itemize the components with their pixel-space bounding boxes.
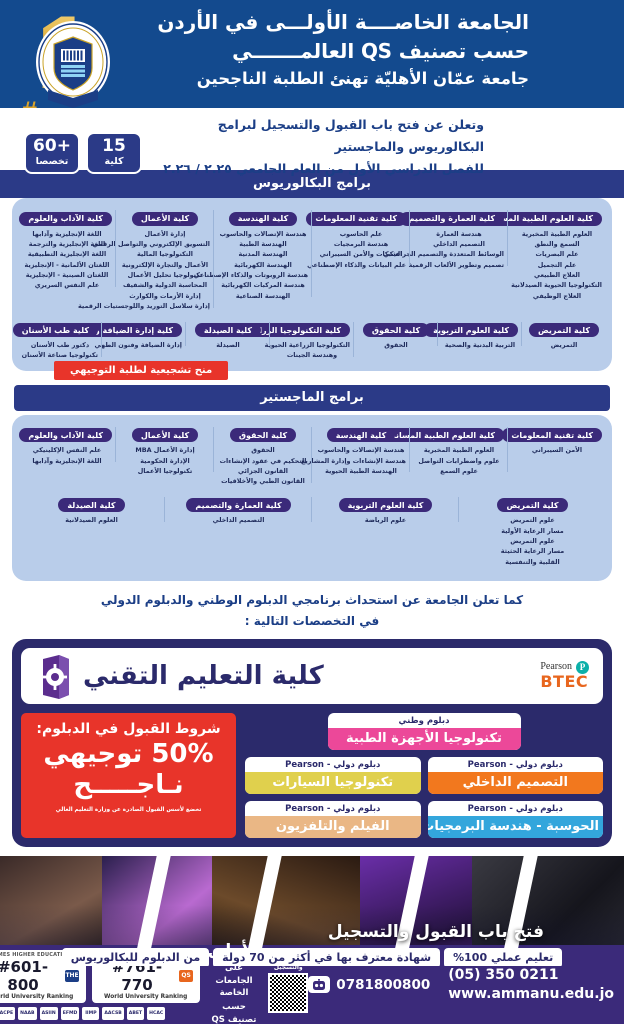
footer-awla-line-2: حسب تصنيف QS [208, 1001, 261, 1027]
program-college-column: كلية التمريضالتمريض [522, 318, 606, 351]
program-college-title: كلية الهندسة [327, 428, 395, 442]
program-college-column: كلية طب الأسناندكتور طب الأسنانتكنولوجيا… [18, 318, 102, 361]
diploma-card-type: دبلوم دولي - Pearson [428, 757, 604, 772]
program-major-list: العلوم الطبية المخبريةالسمع والنطقعلم ال… [512, 229, 602, 302]
program-major-item: إدارة الضيافة وفنون الطهي [106, 340, 182, 350]
program-college-title: كلية الأعمال [132, 428, 198, 442]
program-major-list: هندسة الإتصالات والحاسوبالهندسة الطبيةال… [218, 229, 308, 302]
subheader-line-1: وتعلن عن فتح باب القبول والتسجيل لبرامج … [150, 114, 484, 158]
program-major-item: علوم التمريض [463, 515, 602, 525]
program-major-item: القانون الجزائي [218, 466, 308, 476]
program-major-item: التحكيم في عقود الإنشاءات [218, 456, 308, 466]
program-major-item: إدارة الأعمال [120, 229, 210, 239]
program-major-item: دكتور طب الأسنان [22, 340, 98, 350]
diploma-card-type: دبلوم دولي - Pearson [428, 801, 604, 816]
technical-education-panel: P Pearson BTEC كلية التعليم التقني دبلوم… [12, 639, 612, 847]
footer-contact: (05) 350 0211 www.ammanu.edu.jo [448, 966, 614, 1004]
stat-pill-colleges: 15 كلية [86, 132, 142, 174]
diploma-card-type: دبلوم وطني [328, 713, 521, 728]
program-major-item: العلاج الطبيعي [512, 270, 602, 280]
program-major-list: التمريض [526, 340, 602, 350]
program-major-list: علوم الرياضة [316, 515, 455, 525]
program-college-column: كلية تقنية المعلوماتالأمن السيبراني [508, 423, 606, 456]
diploma-card[interactable]: دبلوم دولي - Pearsonتكنولوجيا السيارات [245, 757, 421, 794]
program-college-column: كلية الحقوقالحقوق [354, 318, 438, 351]
admission-conditions-line-1: 50% توجيهي [29, 740, 228, 769]
diploma-card-row: دبلوم وطنيتكنولوجيا الأجهزة الطبية [245, 713, 603, 750]
program-major-item: العلاج الوظيفي [512, 291, 602, 301]
program-college-column: كلية الصيدلةالصيدلة [186, 318, 270, 351]
diploma-card[interactable]: دبلوم دولي - Pearsonالتصميم الداخلي [428, 757, 604, 794]
header-line-1: الجامعة الخاصــــة الأولـــى في الأردن [150, 8, 529, 37]
accreditation-logo: EFMD [61, 1007, 80, 1020]
diploma-body: دبلوم وطنيتكنولوجيا الأجهزة الطبيةدبلوم … [21, 713, 603, 838]
ranking-badge-icon: THE [65, 970, 78, 982]
program-major-item: الهندسة الطبية الحيوية [316, 466, 406, 476]
program-major-item: اللغتان الألمانية - الإنجليزية [22, 260, 112, 270]
bachelor-row-1: كلية العلوم الطبية المساندةالعلوم الطبية… [18, 206, 606, 312]
program-major-item: علم النفس الإكلينيكي [22, 445, 112, 455]
stats-pills: 15 كلية +60 تخصصا [24, 132, 142, 174]
program-major-item: هندسة الروبوتات والذكاء الإصطناعي [218, 270, 308, 280]
admission-conditions-footnote: تخضع لأسس القبول الصادرة عن وزارة التعلي… [29, 807, 228, 814]
accreditation-logo: AACSB [102, 1007, 123, 1020]
program-college-title: كلية الآداب والعلوم [19, 212, 112, 226]
program-major-item: إدارة الأزمات والكوارث [120, 291, 210, 301]
accreditation-logo: NAAB [18, 1007, 36, 1020]
header-line-3: جامعة عمّان الأهليّة تهنئ الطلبة الناجحي… [150, 67, 529, 92]
program-major-item: علم الحاسوب [316, 229, 406, 239]
program-major-item: هندسة المركبات الكهربائية [218, 280, 308, 290]
diploma-card-name: تكنولوجيا السيارات [245, 772, 421, 794]
photo-strip: فتح باب القبول والتسجيل تعليم عملي 100%ش… [0, 856, 624, 966]
accreditation-logo: HCAC [147, 1007, 165, 1020]
subheader-text: وتعلن عن فتح باب القبول والتسجيل لبرامج … [150, 114, 484, 180]
master-programs-panel: كلية تقنية المعلوماتالأمن السيبرانيكلية … [12, 415, 612, 581]
btec-label: BTEC [540, 674, 589, 691]
program-major-item: اللغة الإنجليزية وآدابها [22, 456, 112, 466]
program-major-item: الهندسة الطبية [218, 239, 308, 249]
photo-benefit-chip: شهادة معترف بها في أكثر من 70 دولة [213, 948, 440, 966]
program-college-title: كلية الآداب والعلوم [19, 428, 112, 442]
admission-conditions-heading: شروط القبول في الدبلوم: [29, 720, 228, 738]
header-text-block: الجامعة الخاصــــة الأولـــى في الأردن ح… [150, 8, 529, 92]
program-major-item: علم البصريات [512, 249, 602, 259]
program-college-title: كلية العمارة والتصميم [186, 498, 290, 512]
section-title-master: برامج الماجستير [14, 385, 610, 411]
photo-benefit-chip: تعليم عملي 100% [444, 948, 562, 966]
master-row-1: كلية تقنية المعلوماتالأمن السيبرانيكلية … [18, 423, 606, 487]
program-college-column: كلية التكنولوجيا الزراعيةالتكنولوجيا الز… [270, 318, 354, 361]
program-major-item: مسار الرعاية الأولية [463, 526, 602, 536]
program-major-item: الإدارة الحكومية [120, 456, 210, 466]
ranking-subtitle: World University Ranking [99, 994, 193, 1000]
footer-whatsapp[interactable]: 0781800800 [308, 976, 430, 993]
program-college-title: كلية التمريض [497, 498, 567, 512]
whatsapp-robot-icon [308, 976, 330, 993]
program-major-item: علوم واضطرابات التواصل [414, 456, 504, 466]
program-college-title: كلية تقنية المعلومات [306, 212, 406, 226]
photo-benefit-chip: من الدبلوم للبكالوريوس [62, 948, 209, 966]
header-banner: 1 # الجامعة الخاصــــة الأولـــى في الأر… [0, 0, 624, 108]
program-major-list: التصميم الداخلي [169, 515, 308, 525]
bachelor-programs-panel: كلية العلوم الطبية المساندةالعلوم الطبية… [12, 198, 612, 371]
program-college-column: كلية الحقوقالحقوقالتحكيم في عقود الإنشاء… [214, 423, 312, 487]
accreditation-logo: ASIIN [40, 1007, 58, 1020]
program-college-title: كلية الصيدلة [58, 498, 124, 512]
program-major-item: هندسة الإتصالات والحاسوب [218, 229, 308, 239]
program-college-column: كلية العلوم الطبية المساندةالعلوم الطبية… [508, 206, 606, 301]
diploma-card[interactable]: دبلوم وطنيتكنولوجيا الأجهزة الطبية [328, 713, 521, 750]
program-college-column: كلية العمارة والتصميمهندسة العمارةالتصمي… [410, 206, 508, 270]
program-college-column: كلية الصيدلةالعلوم الصيدلانية [18, 493, 165, 526]
stat-pill-colleges-label: كلية [88, 156, 140, 168]
program-major-item: الهندسة الكهربائية [218, 260, 308, 270]
diploma-card-row: دبلوم دولي - Pearsonالتصميم الداخليدبلوم… [245, 757, 603, 794]
program-major-list: علم النفس الإكلينيكياللغة الإنجليزية وآد… [22, 445, 112, 466]
diploma-card-name: التصميم الداخلي [428, 772, 604, 794]
program-major-item: التصميم الداخلي [169, 515, 308, 525]
program-major-list: إدارة الأعمالالتسويق الإلكتروني والتواصل… [120, 229, 210, 312]
program-major-item: وهندسة الجينات [274, 350, 350, 360]
accreditation-logos: HCACABETAACSBIIMPEFMDASIINNAABACPEADA [0, 1007, 165, 1020]
accreditation-logo: ABET [127, 1007, 144, 1020]
scholarship-banner: منح تشجيعية لطلبة التوجيهي [54, 361, 228, 380]
program-major-list: العلوم الصيدلانية [22, 515, 161, 525]
program-college-column: كلية الأعمالإدارة الأعمالالتسويق الإلكتر… [116, 206, 214, 312]
program-major-item: الصيدلة [190, 340, 266, 350]
pearson-btec-logo: P Pearson BTEC [540, 661, 589, 691]
program-major-item: هندسة الإتصالات والحاسوب [316, 445, 406, 455]
program-major-list: هندسة العمارةالتصميم الداخليالوسائط المت… [414, 229, 504, 271]
program-college-column: كلية الآداب والعلومعلم النفس الإكلينيكيا… [18, 423, 116, 466]
qr-code-icon[interactable] [268, 973, 308, 1013]
program-major-item: العلوم الصيدلانية [22, 515, 161, 525]
program-major-item: القانون الطبي والأخلاقيات [218, 476, 308, 486]
program-major-item: الهندسة الصناعية [218, 291, 308, 301]
program-college-title: كلية طب الأسنان [13, 323, 98, 337]
diploma-intro-line-1: كما تعلن الجامعة عن استحداث برنامجي الدب… [0, 590, 624, 611]
program-major-list: الحقوقالتحكيم في عقود الإنشاءاتالقانون ا… [218, 445, 308, 487]
program-college-column: كلية الأعمالإدارة الأعمال MBAالإدارة الح… [116, 423, 214, 477]
program-major-item: تكنولوجيا تحليل الأعمال [120, 270, 210, 280]
program-college-title: كلية العمارة والتصميم [400, 212, 504, 226]
program-major-list: دكتور طب الأسنانتكنولوجيا صناعة الأسنان [22, 340, 98, 361]
program-major-item: اللغة الإنجليزية وآدابها [22, 229, 112, 239]
program-major-item: هندسة العمارة [414, 229, 504, 239]
program-major-item: هندسة الإنشاءات وإدارة المشاريع [316, 456, 406, 466]
program-college-title: كلية الصيدلة [195, 323, 261, 337]
photo-strip-chips: تعليم عملي 100%شهادة معترف بها في أكثر م… [0, 948, 624, 966]
technical-college-title-group: كلية التعليم التقني [35, 653, 324, 699]
header-line-2: حسب تصنيف QS العالمـــــــي [150, 37, 529, 66]
program-major-item: التكنولوجيا المالية [120, 249, 210, 259]
technical-college-header: P Pearson BTEC كلية التعليم التقني [21, 648, 603, 704]
program-major-item: اللغة الإنجليزية والترجمة [22, 239, 112, 249]
program-college-title: كلية التمريض [529, 323, 599, 337]
program-major-item: علوم التمريض [463, 536, 602, 546]
program-major-item: اللغتان الصينية - الإنجليزية [22, 270, 112, 280]
diploma-intro-line-2: في التخصصات التالية : [0, 611, 624, 632]
diploma-card[interactable]: دبلوم دولي - Pearsonالحوسبة - هندسة البر… [428, 801, 604, 838]
program-major-item: تكنولوجيا الأعمال [120, 466, 210, 476]
program-college-title: كلية الحقوق [230, 428, 296, 442]
accreditation-logo: IIMP [82, 1007, 99, 1020]
program-major-item: الأمن السيبراني [512, 445, 602, 455]
program-major-item: التربية البدنية والصحية [442, 340, 518, 350]
subheader-line-2: للفصل الدراسي الأول من العام الجامعي ٢.٢… [150, 158, 484, 180]
stat-pill-majors-label: تخصصا [26, 156, 78, 168]
photo-strip-caption: فتح باب القبول والتسجيل [328, 922, 544, 942]
program-major-item: إدارة الأعمال MBA [120, 445, 210, 455]
program-college-column: كلية التمريضعلوم التمريضمسار الرعاية الأ… [459, 493, 606, 567]
program-college-title: كلية الحقوق [363, 323, 429, 337]
program-major-list: العلوم الطبية المخبريةعلوم واضطرابات الت… [414, 445, 504, 476]
diploma-cards-group: دبلوم وطنيتكنولوجيا الأجهزة الطبيةدبلوم … [245, 713, 603, 838]
technical-college-title: كلية التعليم التقني [83, 661, 324, 691]
program-major-item: اللغة الإنجليزية التطبيقية [22, 249, 112, 259]
program-major-item: علم التجميل [512, 260, 602, 270]
diploma-intro: كما تعلن الجامعة عن استحداث برنامجي الدب… [0, 581, 624, 639]
program-major-item: الحقوق [218, 445, 308, 455]
tech-education-book-gear-icon [35, 653, 75, 699]
program-college-column: كلية العلوم التربويةعلوم الرياضة [312, 493, 459, 526]
program-major-item: العلوم الطبية المخبرية [512, 229, 602, 239]
diploma-card-type: دبلوم دولي - Pearson [245, 757, 421, 772]
program-college-column: كلية الهندسةهندسة الإتصالات والحاسوبهندس… [312, 423, 410, 477]
program-college-column: كلية العلوم الطبية المساندةالعلوم الطبية… [410, 423, 508, 477]
program-college-column: كلية العمارة والتصميمالتصميم الداخلي [165, 493, 312, 526]
footer-website[interactable]: www.ammanu.edu.jo [448, 985, 614, 1004]
program-major-item: مسار الرعاية الحثيثة [463, 546, 602, 556]
program-college-title: كلية الأعمال [132, 212, 198, 226]
program-college-title: كلية الهندسة [229, 212, 297, 226]
diploma-card-name: الحوسبة - هندسة البرمجيات [428, 816, 604, 838]
program-major-item: الحقوق [358, 340, 434, 350]
admission-conditions-box: شروط القبول في الدبلوم: 50% توجيهي نـاجـ… [21, 713, 236, 838]
program-college-title: كلية العلوم التربوية [424, 323, 518, 337]
program-major-item: التمريض [526, 340, 602, 350]
program-college-column: كلية إدارة الضيافة والسياحةإدارة الضيافة… [102, 318, 186, 351]
program-major-item: التسويق الإلكتروني والتواصل الرقمي [120, 239, 210, 249]
footer-whatsapp-number[interactable]: 0781800800 [336, 977, 430, 993]
ranking-badge-icon: QS [179, 970, 192, 982]
diploma-card-name: الفيلم والتلفزيون [245, 816, 421, 838]
program-college-title: كلية العلوم التربوية [339, 498, 433, 512]
program-major-list: الأمن السيبراني [512, 445, 602, 455]
diploma-card-row: دبلوم دولي - Pearsonالحوسبة - هندسة البر… [245, 801, 603, 838]
program-major-list: التكنولوجيا الزراعية الحيويةوهندسة الجين… [274, 340, 350, 361]
program-major-list: إدارة الأعمال MBAالإدارة الحكوميةتكنولوج… [120, 445, 210, 476]
program-major-item: إدارة سلاسل التوريد واللوجستيات الرقمية [120, 301, 210, 311]
bachelor-row-2: كلية التمريضالتمريضكلية العلوم التربويةا… [18, 318, 606, 361]
program-major-item: الأعمال والتجارة الإلكترونية [120, 260, 210, 270]
accreditation-logo: ACPE [0, 1007, 15, 1020]
program-major-item: تصميم وتطوير الألعاب الرقمية [414, 260, 504, 270]
program-major-list: علوم التمريضمسار الرعاية الأوليةعلوم الت… [463, 515, 602, 567]
program-major-item: تكنولوجيا صناعة الأسنان [22, 350, 98, 360]
program-major-list: إدارة الضيافة وفنون الطهي [106, 340, 182, 350]
program-major-item: التكنولوجيا الحيوية الصيدلانية [512, 280, 602, 290]
program-major-item: التكنولوجيا الزراعية الحيوية [274, 340, 350, 350]
program-major-item: علم البيانات والذكاء الإصطناعي [316, 260, 406, 270]
master-row-2: كلية التمريضعلوم التمريضمسار الرعاية الأ… [18, 493, 606, 567]
program-major-item: العلوم الطبية المخبرية [414, 445, 504, 455]
program-major-list: التربية البدنية والصحية [442, 340, 518, 350]
program-college-column: كلية الهندسةهندسة الإتصالات والحاسوبالهن… [214, 206, 312, 301]
program-college-column: كلية الآداب والعلوماللغة الإنجليزية وآدا… [18, 206, 116, 291]
diploma-card-type: دبلوم دولي - Pearson [245, 801, 421, 816]
program-major-item: القلبية والتنفسية [463, 557, 602, 567]
program-major-item: التصميم الداخلي [414, 239, 504, 249]
program-major-item: علم النفس السريري [22, 280, 112, 290]
program-major-item: الهندسة المدنية [218, 249, 308, 259]
program-major-item: الشبكات والأمن السيبراني [316, 249, 406, 259]
program-college-column: كلية العلوم التربويةالتربية البدنية والص… [438, 318, 522, 351]
stat-pill-majors-number: +60 [26, 137, 78, 156]
program-major-item: المحاسبة الدولية والشفيف [120, 280, 210, 290]
program-major-list: الحقوق [358, 340, 434, 350]
admission-conditions-line-2: نـاجـــــح [29, 771, 228, 800]
program-major-item: الوسائط المتعددة والتصميم الجرافيكي [414, 249, 504, 259]
stat-pill-colleges-number: 15 [88, 137, 140, 156]
program-major-list: هندسة الإتصالات والحاسوبهندسة الإنشاءات … [316, 445, 406, 476]
program-major-item: هندسة البرمجيات [316, 239, 406, 249]
program-major-list: اللغة الإنجليزية وآدابهااللغة الإنجليزية… [22, 229, 112, 291]
stat-pill-majors: +60 تخصصا [24, 132, 80, 174]
university-crest-icon [34, 18, 112, 110]
program-major-item: علوم السمع [414, 466, 504, 476]
footer-phone[interactable]: (05) 350 0211 [448, 966, 614, 985]
program-major-list: الصيدلة [190, 340, 266, 350]
program-major-item: السمع والنطق [512, 239, 602, 249]
program-major-item: علوم الرياضة [316, 515, 455, 525]
program-major-list: علم الحاسوبهندسة البرمجياتالشبكات والأمن… [316, 229, 406, 271]
footer-awla-line-1: على الجامعات الخاصة [208, 962, 261, 1000]
ranking-subtitle: World University Ranking [0, 994, 79, 1000]
diploma-card-name: تكنولوجيا الأجهزة الطبية [328, 728, 521, 750]
program-college-column: كلية تقنية المعلوماتعلم الحاسوبهندسة الب… [312, 206, 410, 270]
program-college-title: كلية تقنية المعلومات [502, 428, 602, 442]
diploma-card[interactable]: دبلوم دولي - Pearsonالفيلم والتلفزيون [245, 801, 421, 838]
